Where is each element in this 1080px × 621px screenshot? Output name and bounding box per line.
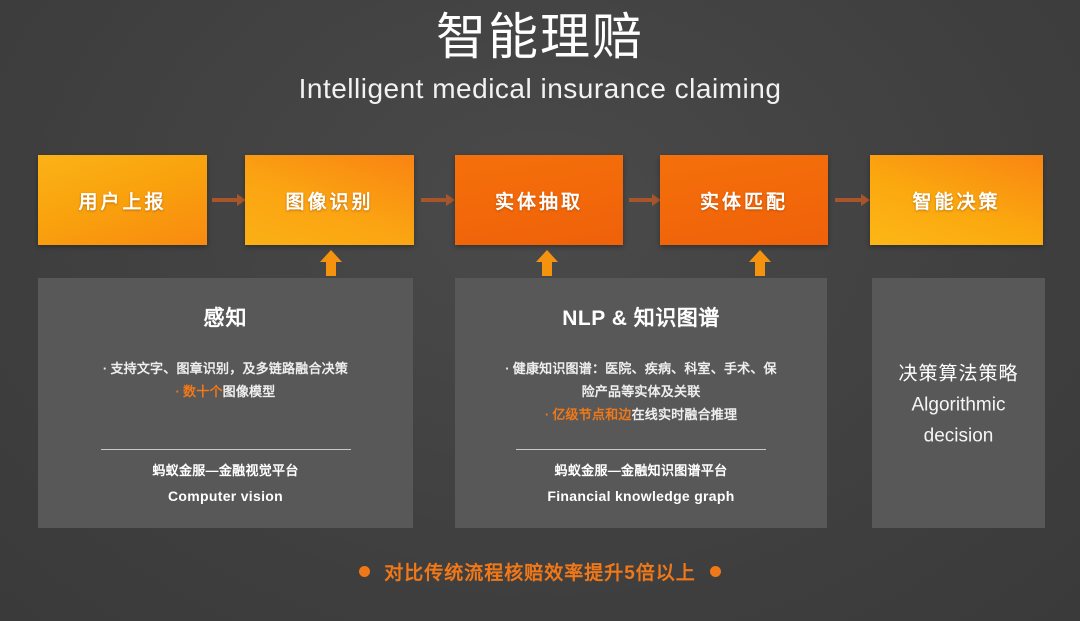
list-item: ·支持文字、图章识别，及多链路融合决策: [64, 358, 387, 381]
list-item: 险产品等实体及关联: [481, 381, 801, 404]
panel-perception-bullets: ·支持文字、图章识别，及多链路融合决策 ·数十个图像模型: [38, 358, 413, 404]
banner-dot-right-icon: [710, 566, 721, 577]
panel-footer-en: Financial knowledge graph: [455, 488, 827, 504]
up-arrow-shaft-1: [326, 260, 336, 276]
page-title-en: Intelligent medical insurance claiming: [0, 73, 1080, 105]
bullet-text: 在线实时融合推理: [632, 407, 738, 422]
list-item: ·亿级节点和边在线实时融合推理: [481, 404, 801, 427]
summary-banner-text: 对比传统流程核赔效率提升5倍以上: [384, 558, 696, 585]
flow-arrow-right-2: [421, 198, 447, 202]
bullet-text: 支持文字、图章识别，及多链路融合决策: [110, 361, 348, 376]
panel-algorithmic-decision: 决策算法策略 Algorithmic decision: [872, 278, 1045, 528]
process-flow: 用户上报 图像识别 实体抽取 实体匹配 智能决策: [38, 155, 1043, 245]
page-title-cn: 智能理赔: [0, 6, 1080, 69]
flow-step-1-label: 用户上报: [78, 187, 166, 214]
up-arrow-icon-3: [749, 250, 771, 276]
bullet-dot-icon: ·: [103, 361, 108, 376]
list-item: ·数十个图像模型: [64, 381, 387, 404]
list-item: ·健康知识图谱：医院、疾病、科室、手术、保: [481, 358, 801, 381]
panel-perception-title: 感知: [38, 302, 413, 332]
panel-nlp-kg-bullets: ·健康知识图谱：医院、疾病、科室、手术、保 险产品等实体及关联 ·亿级节点和边在…: [455, 358, 827, 426]
panel-right-line-en2: decision: [872, 426, 1045, 448]
bullet-dot-icon: ·: [545, 407, 550, 422]
flow-step-3[interactable]: 实体抽取: [455, 155, 623, 245]
panel-divider: [516, 449, 766, 450]
flow-arrow-right-1: [212, 198, 238, 202]
flow-step-3-label: 实体抽取: [495, 187, 583, 214]
panel-nlp-kg-footer: 蚂蚁金服—金融知识图谱平台 Financial knowledge graph: [455, 460, 827, 504]
panel-right-line-cn: 决策算法策略: [872, 359, 1045, 386]
panel-footer-en: Computer vision: [38, 488, 413, 504]
flow-step-4[interactable]: 实体匹配: [660, 155, 828, 245]
up-arrow-shaft-3: [755, 260, 765, 276]
banner-dot-left-icon: [359, 566, 370, 577]
up-arrow-icon-2: [536, 250, 558, 276]
flow-step-2-label: 图像识别: [285, 187, 373, 214]
panel-footer-cn: 蚂蚁金服—金融视觉平台: [38, 460, 413, 479]
panel-perception-footer: 蚂蚁金服—金融视觉平台 Computer vision: [38, 460, 413, 504]
flow-step-5[interactable]: 智能决策: [870, 155, 1043, 245]
flow-step-2[interactable]: 图像识别: [245, 155, 414, 245]
bullet-dot-icon: ·: [176, 384, 181, 399]
flow-step-4-label: 实体匹配: [700, 187, 788, 214]
up-arrow-shaft-2: [542, 260, 552, 276]
panel-divider: [101, 449, 351, 450]
bullet-text: 图像模型: [223, 384, 276, 399]
flow-step-5-label: 智能决策: [912, 187, 1000, 214]
bullet-dot-icon: ·: [505, 361, 510, 376]
slide-canvas: 智能理赔 Intelligent medical insurance claim…: [0, 0, 1080, 621]
panel-nlp-kg-title: NLP & 知识图谱: [455, 302, 827, 332]
bullet-text: 险产品等实体及关联: [582, 384, 701, 399]
bullet-text: 健康知识图谱：医院、疾病、科室、手术、保: [513, 361, 777, 376]
summary-banner: 对比传统流程核赔效率提升5倍以上: [0, 558, 1080, 585]
slide-header: 智能理赔 Intelligent medical insurance claim…: [0, 6, 1080, 105]
flow-arrow-right-3: [629, 198, 653, 202]
bullet-highlight: 数十个: [183, 384, 223, 399]
panel-right-line-en1: Algorithmic: [872, 395, 1045, 417]
up-arrow-icon-1: [320, 250, 342, 276]
panel-footer-cn: 蚂蚁金服—金融知识图谱平台: [455, 460, 827, 479]
panel-nlp-kg: NLP & 知识图谱 ·健康知识图谱：医院、疾病、科室、手术、保 险产品等实体及…: [455, 278, 827, 528]
bullet-highlight: 亿级节点和边: [552, 407, 631, 422]
flow-step-1[interactable]: 用户上报: [38, 155, 207, 245]
panel-perception: 感知 ·支持文字、图章识别，及多链路融合决策 ·数十个图像模型 蚂蚁金服—金融视…: [38, 278, 413, 528]
panel-algorithmic-decision-content: 决策算法策略 Algorithmic decision: [872, 359, 1045, 448]
flow-arrow-right-4: [835, 198, 862, 202]
